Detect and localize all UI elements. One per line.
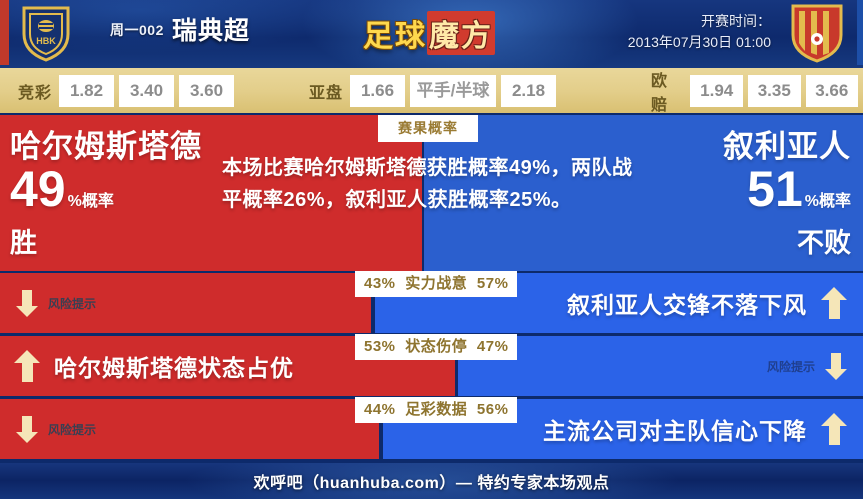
svg-text:HBK: HBK [36, 36, 56, 46]
arrow-down-icon [16, 414, 38, 444]
odds-value[interactable]: 3.40 [119, 75, 174, 107]
row-right-percent: 47% [477, 338, 509, 355]
odds-value[interactable]: 3.66 [806, 75, 859, 107]
row-metric-name: 状态伤停 [405, 338, 467, 355]
row-away-message: 叙利亚人交锋不落下风 [567, 273, 847, 333]
header-left-accent [0, 0, 9, 65]
row-away-message: 主流公司对主队信心下降 [543, 399, 847, 459]
footer-credit: 欢呼吧（huanhuba.com）— 特约专家本场观点 [0, 463, 863, 499]
match-number: 周一002 [110, 20, 164, 40]
home-team-crest-icon: HBK [18, 4, 74, 62]
row-metric-chip: 43% 实力战意 57% [355, 271, 517, 297]
row-left-percent: 53% [364, 338, 396, 355]
home-outcome-label: 胜 [10, 226, 240, 260]
brand-right-text: 魔方 [427, 11, 495, 55]
row-away-message: 风险提示 [767, 336, 847, 396]
footer-bar: 欢呼吧（huanhuba.com）— 特约专家本场观点 [0, 463, 863, 499]
home-team-name: 哈尔姆斯塔德 [10, 129, 240, 165]
home-probability-percent: 49 [10, 161, 66, 217]
odds-value[interactable]: 1.66 [350, 75, 405, 107]
arrow-up-icon [821, 286, 847, 320]
result-probability-tab[interactable]: 赛果概率 [378, 115, 478, 142]
header-bar: HBK 周一002 瑞典超 足球魔方 开赛时间： 2013年07月30日 01:… [0, 0, 863, 68]
result-probability-panel: 哈尔姆斯塔德 49%概率 胜 叙利亚人 51%概率 不败 赛果概率 本场比赛哈尔… [0, 115, 863, 271]
odds-value[interactable]: 1.94 [690, 75, 743, 107]
odds-group-label: 竞彩 [18, 79, 52, 103]
away-team-summary: 叙利亚人 51%概率 不败 [611, 129, 851, 260]
brand-logo: 足球魔方 [349, 4, 509, 60]
away-team-name: 叙利亚人 [611, 129, 851, 165]
row-home-message-text: 风险提示 [48, 295, 96, 312]
odds-group-european: 欧赔 1.94 3.35 3.66 [651, 68, 863, 113]
odds-group-label: 欧赔 [651, 67, 683, 115]
odds-value[interactable]: 1.82 [59, 75, 114, 107]
away-probability-percent: 51 [747, 161, 803, 217]
probability-summary-text: 本场比赛哈尔姆斯塔德获胜概率49%，两队战平概率26%，叙利亚人获胜概率25%。 [222, 152, 640, 216]
arrow-up-icon [14, 349, 40, 383]
row-home-message: 风险提示 [16, 399, 96, 459]
row-home-message: 风险提示 [16, 273, 96, 333]
odds-value[interactable]: 3.35 [748, 75, 801, 107]
arrow-up-icon [821, 412, 847, 446]
away-team-crest-icon [789, 3, 845, 63]
row-home-message-text: 哈尔姆斯塔德状态占优 [54, 349, 294, 383]
odds-bar: 竞彩 1.82 3.40 3.60 亚盘 1.66 平手/半球 2.18 欧赔 … [0, 68, 863, 113]
kickoff-time: 开赛时间： 2013年07月30日 01:00 [628, 11, 771, 53]
row-metric-chip: 53% 状态伤停 47% [355, 334, 517, 360]
row-left-percent: 44% [364, 401, 396, 418]
comparison-row: 哈尔姆斯塔德状态占优 53% 状态伤停 47% 风险提示 [0, 336, 863, 396]
row-away-message-text: 主流公司对主队信心下降 [543, 412, 807, 446]
comparison-rows: 风险提示 43% 实力战意 57% 叙利亚人交锋不落下风 哈尔姆斯塔德状态占优 … [0, 273, 863, 463]
row-home-message: 哈尔姆斯塔德状态占优 [14, 336, 294, 396]
comparison-row: 风险提示 43% 实力战意 57% 叙利亚人交锋不落下风 [0, 273, 863, 333]
row-away-message-text: 叙利亚人交锋不落下风 [567, 286, 807, 320]
odds-group-jingcai: 竞彩 1.82 3.40 3.60 [18, 68, 239, 113]
row-metric-chip: 44% 足彩数据 56% [355, 397, 517, 423]
row-home-message-text: 风险提示 [48, 421, 96, 438]
row-right-percent: 57% [477, 275, 509, 292]
header-right-accent [857, 0, 863, 65]
row-away-message-text: 风险提示 [767, 358, 815, 375]
row-metric-name: 足彩数据 [405, 401, 467, 418]
kickoff-label: 开赛时间： [628, 11, 771, 32]
row-metric-name: 实力战意 [405, 275, 467, 292]
row-right-percent: 56% [477, 401, 509, 418]
away-probability-unit: %概率 [805, 193, 851, 210]
odds-group-asian-handicap: 亚盘 1.66 平手/半球 2.18 [309, 68, 561, 113]
match-preview-infographic: HBK 周一002 瑞典超 足球魔方 开赛时间： 2013年07月30日 01:… [0, 0, 863, 499]
home-team-summary: 哈尔姆斯塔德 49%概率 胜 [10, 129, 240, 260]
arrow-down-icon [16, 288, 38, 318]
odds-value[interactable]: 2.18 [501, 75, 556, 107]
odds-handicap-value[interactable]: 平手/半球 [410, 75, 496, 107]
away-outcome-label: 不败 [611, 226, 851, 260]
odds-value[interactable]: 3.60 [179, 75, 234, 107]
comparison-row: 风险提示 44% 足彩数据 56% 主流公司对主队信心下降 [0, 399, 863, 459]
row-left-percent: 43% [364, 275, 396, 292]
kickoff-value: 2013年07月30日 01:00 [628, 32, 771, 53]
arrow-down-icon [825, 351, 847, 381]
brand-left-text: 足球 [363, 20, 427, 53]
league-name: 瑞典超 [172, 11, 250, 47]
odds-group-label: 亚盘 [309, 79, 343, 103]
home-probability-unit: %概率 [68, 193, 114, 210]
